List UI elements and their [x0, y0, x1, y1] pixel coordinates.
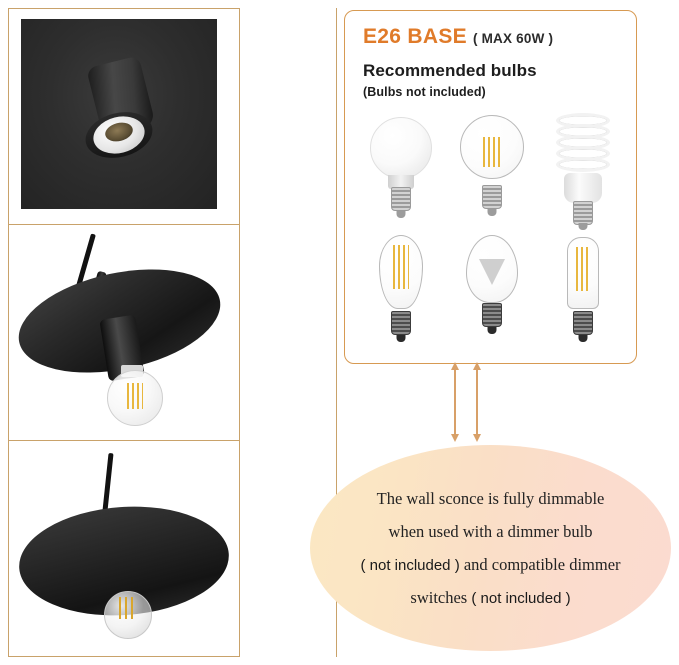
- cfl-ballast-body: [564, 173, 602, 203]
- cfl-spiral-tube: [556, 113, 610, 175]
- bulb-filament: [576, 247, 590, 291]
- right-column: E26 BASE ( MAX 60W ) Recommended bulbs (…: [248, 8, 671, 657]
- callout-line-2: when used with a dimmer bulb: [332, 515, 650, 548]
- bulbs-not-included-note: (Bulbs not included): [363, 85, 486, 99]
- recommended-bulbs-heading: Recommended bulbs: [363, 61, 537, 81]
- not-included-label: ( not included ): [471, 590, 570, 607]
- base-tip: [487, 209, 496, 216]
- disc-shade-top-illustration: [9, 441, 239, 656]
- cfl-turn: [556, 157, 610, 172]
- base-tip: [578, 335, 587, 342]
- disc-shade-angled-illustration: [9, 225, 239, 440]
- photo-panel-socket-closeup: [9, 9, 239, 225]
- not-included-label: ( not included ): [360, 557, 459, 574]
- e26-screw-base: [573, 311, 593, 335]
- e26-screw-base: [573, 201, 593, 225]
- bulb-spec-box: E26 BASE ( MAX 60W ) Recommended bulbs (…: [344, 10, 637, 364]
- arrow-head-up-icon: [473, 362, 481, 370]
- connector-arrows: [344, 364, 637, 442]
- bulb-st64-edison: [359, 233, 443, 349]
- bulb-cfl-spiral: [541, 111, 625, 227]
- box-heading: E26 BASE ( MAX 60W ): [363, 25, 553, 49]
- bulb-t45-tubular-filament: [541, 233, 625, 349]
- e26-screw-base: [482, 303, 502, 327]
- callout-line-4: switches ( not included ): [332, 581, 650, 614]
- bulb-filament: [119, 597, 137, 619]
- connector-arrow: [454, 368, 456, 436]
- base-tip: [396, 211, 405, 218]
- callout-text: The wall sconce is fully dimmable when u…: [332, 482, 650, 614]
- arrow-head-down-icon: [451, 434, 459, 442]
- base-tip: [396, 335, 405, 342]
- e26-base-title: E26 BASE: [363, 25, 467, 49]
- callout-line-3-rest: and compatible dimmer: [460, 555, 621, 574]
- bulb-a19-incandescent: [450, 233, 534, 349]
- arrow-head-down-icon: [473, 434, 481, 442]
- callout-line-3: ( not included ) and compatible dimmer: [332, 548, 650, 581]
- bulb-filament: [483, 137, 501, 167]
- photo-panel-disc-shade-angled: [9, 225, 239, 441]
- infographic-root: E26 BASE ( MAX 60W ) Recommended bulbs (…: [0, 0, 679, 665]
- bulb-g25-frosted-globe: [359, 111, 443, 227]
- arrow-head-up-icon: [451, 362, 459, 370]
- socket-closeup-illustration: [9, 9, 239, 224]
- frosted-globe-glass: [370, 117, 432, 179]
- bulb-g25-clear-filament-globe: [450, 111, 534, 227]
- callout-line-1: The wall sconce is fully dimmable: [332, 482, 650, 515]
- filament-support-cone: [479, 259, 505, 285]
- callout-line-4-lead: switches: [410, 588, 471, 607]
- bulb-filament: [393, 245, 409, 289]
- max-wattage-label: ( MAX 60W ): [473, 31, 553, 46]
- e26-screw-base: [391, 187, 411, 211]
- bulb-row-2: [355, 233, 628, 349]
- base-tip: [487, 327, 496, 334]
- connector-arrow: [476, 368, 478, 436]
- photo-panel-disc-shade-top: [9, 441, 239, 656]
- bulb-grid: [355, 111, 628, 353]
- bulb-row-1: [355, 111, 628, 227]
- photo-column: [8, 8, 240, 657]
- bulb-filament: [127, 383, 143, 409]
- dimmable-callout: The wall sconce is fully dimmable when u…: [310, 445, 671, 651]
- e26-screw-base: [482, 185, 502, 209]
- e26-screw-base: [391, 311, 411, 335]
- base-tip: [578, 223, 587, 230]
